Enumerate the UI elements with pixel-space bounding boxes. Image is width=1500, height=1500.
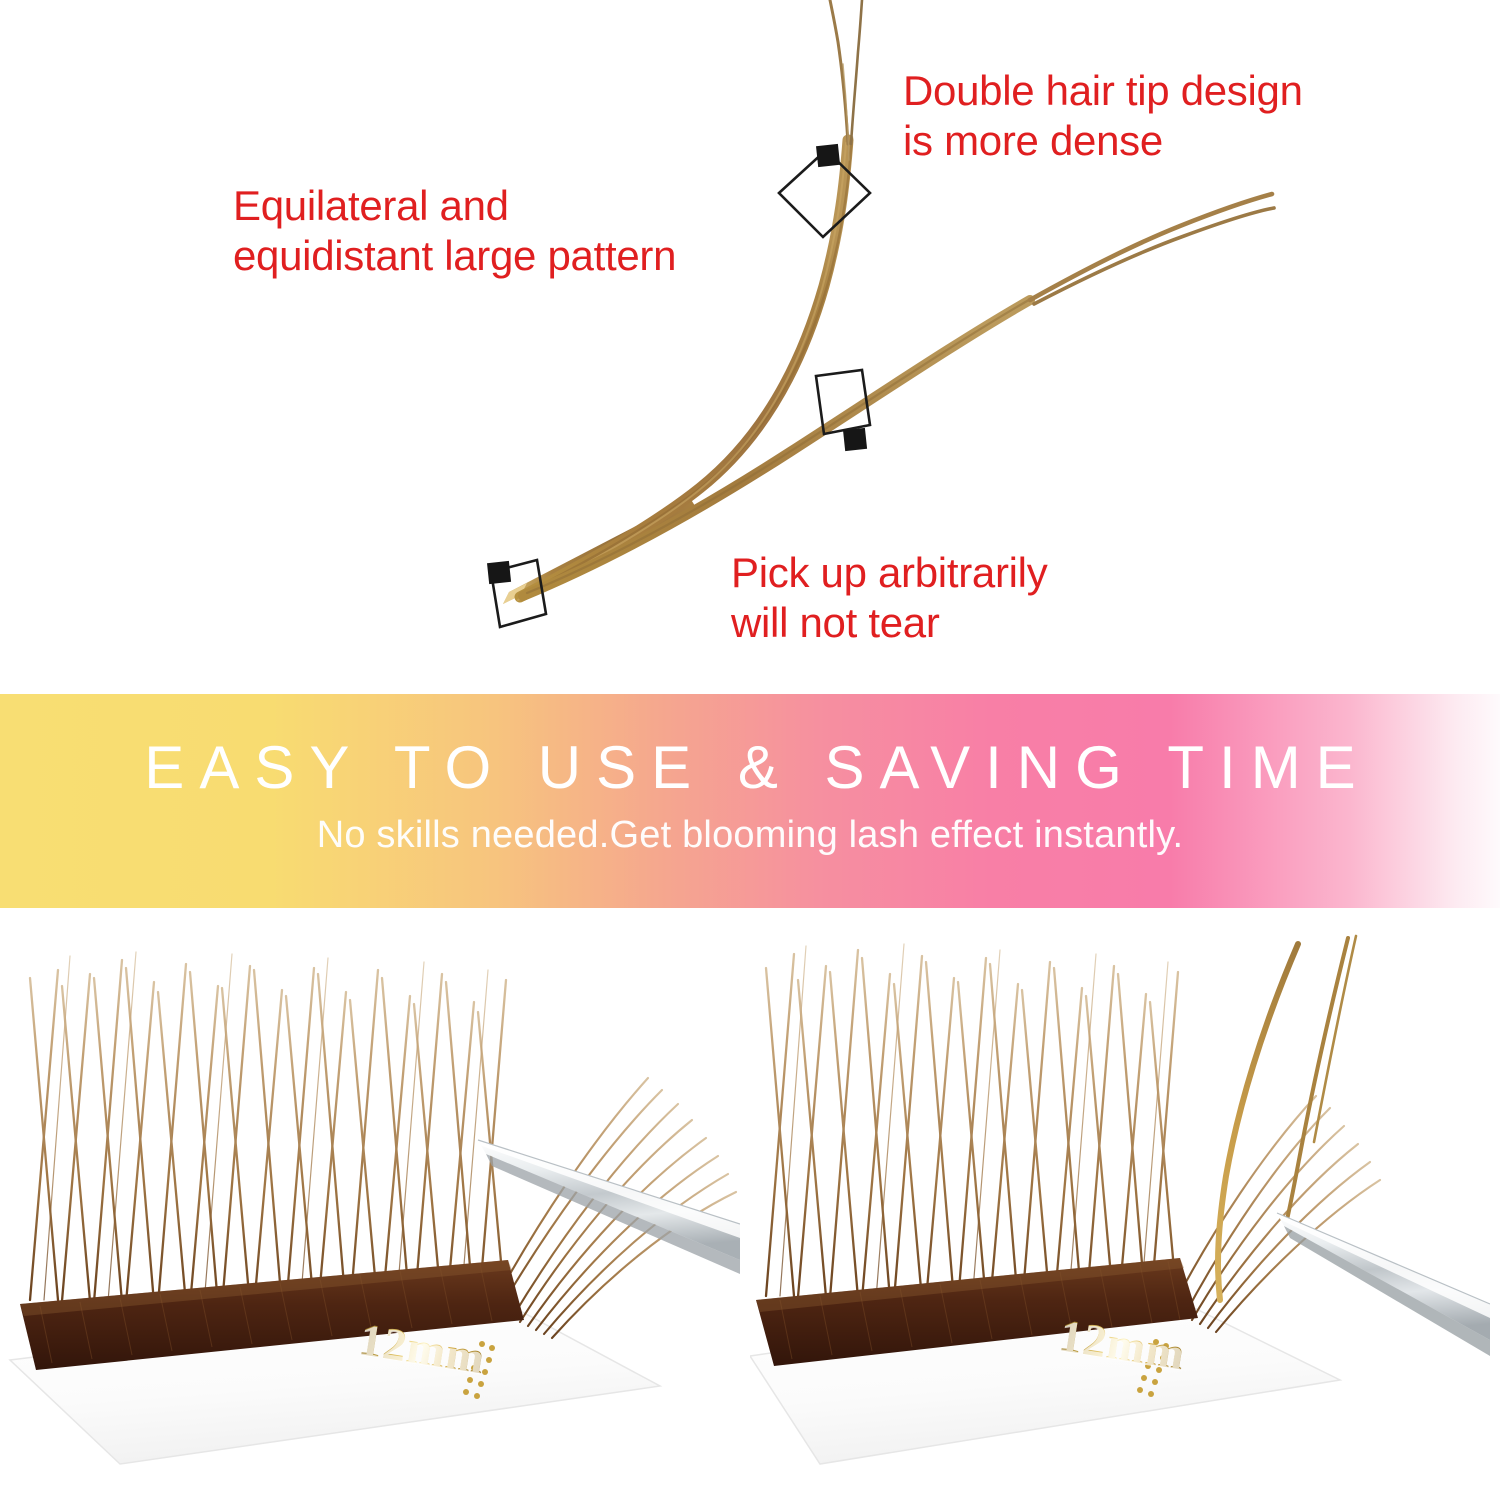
- banner-headline: EASY TO USE & SAVING TIME: [0, 738, 1500, 798]
- tweezers: [478, 1140, 740, 1274]
- gradient-banner: EASY TO USE & SAVING TIME No skills need…: [0, 694, 1500, 908]
- product-feature-image: Double hair tip design is more dense Equ…: [0, 0, 1500, 1500]
- lash-strip-left-illustration: [0, 908, 740, 1500]
- product-photo-section: [0, 908, 1500, 1500]
- callout-pick-up-no-tear: Pick up arbitrarily will not tear: [731, 548, 1047, 647]
- lash-strip-right-illustration: [750, 908, 1490, 1500]
- marker-tip-diamond: [779, 144, 870, 237]
- tweezers: [1277, 1213, 1490, 1356]
- callout-equilateral-pattern: Equilateral and equidistant large patter…: [233, 181, 676, 280]
- photo-lash-strip-with-tweezers: [0, 908, 740, 1500]
- callout-double-hair-tip: Double hair tip design is more dense: [903, 66, 1303, 165]
- fiber-diagram-section: Double hair tip design is more dense Equ…: [0, 0, 1500, 694]
- photo-lash-strip-with-single-pickup: [750, 908, 1490, 1500]
- banner-subheadline: No skills needed.Get blooming lash effec…: [0, 816, 1500, 854]
